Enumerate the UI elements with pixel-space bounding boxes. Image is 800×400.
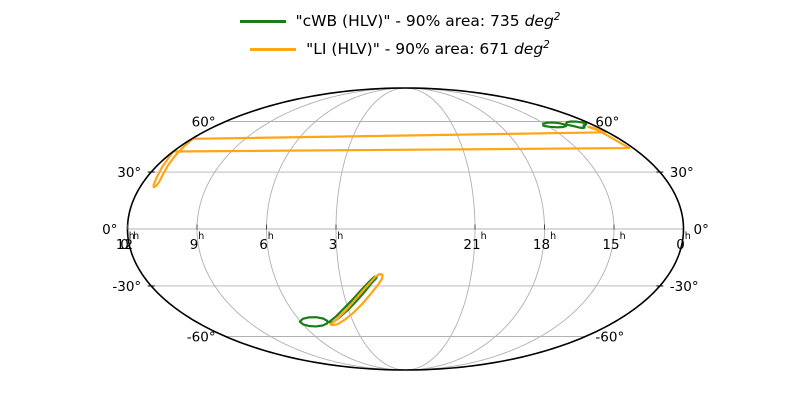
contour-cwb-south-blob [300, 317, 327, 326]
dec-label-right-0: 0° [694, 222, 709, 238]
sky-map-plot: 0h21h18h15h12h9h6h3h0h 60°60°30°30°0°0°-… [0, 0, 800, 400]
dec-label-right--60: -60° [595, 329, 624, 345]
contour-overlays [154, 122, 630, 327]
dec-label-right-60: 60° [595, 115, 619, 131]
contour-cwb-north-blob [566, 122, 586, 128]
contour-li-north-streak [154, 127, 630, 187]
ra-axis-labels: 0h21h18h15h12h9h6h3h0h [116, 231, 691, 254]
dec-label-left-60: 60° [192, 115, 216, 131]
dec-label-left--30: -30° [112, 279, 141, 295]
contour-li-south-streak [331, 274, 383, 325]
dec-label-right--30: -30° [670, 279, 699, 295]
skymap-figure: "cWB (HLV)" - 90% area: 735 deg2 "LI (HL… [0, 0, 800, 400]
dec-label-left--60: -60° [187, 329, 216, 345]
dec-label-left-0: 0° [102, 222, 117, 238]
dec-label-right-30: 30° [670, 165, 694, 181]
dec-label-left-30: 30° [117, 165, 141, 181]
